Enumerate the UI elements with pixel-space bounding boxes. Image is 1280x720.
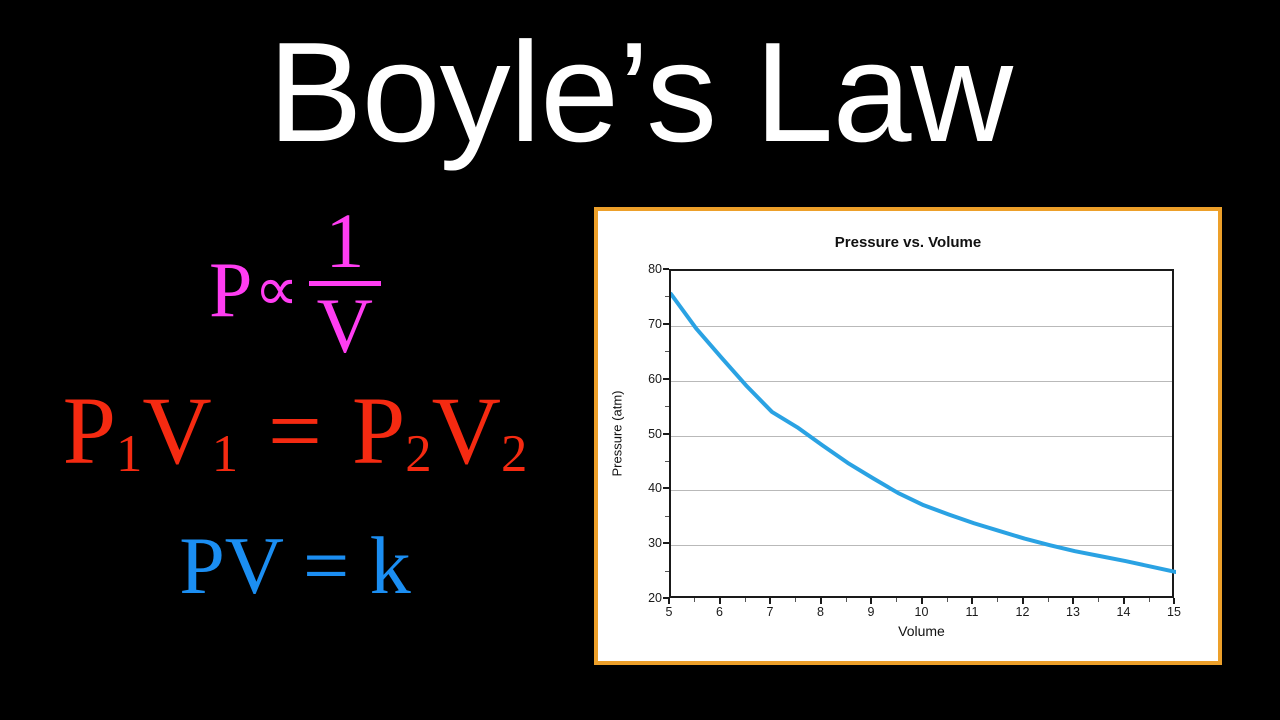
y-tick-minor xyxy=(665,406,669,407)
proportional-to-icon: ∝ xyxy=(254,259,298,321)
y-tick-label: 30 xyxy=(622,536,662,550)
chart-plot-wrapper: 20304050607080 56789101112131415 xyxy=(669,269,1174,598)
y-tick-major xyxy=(663,268,669,270)
y-tick-label: 40 xyxy=(622,481,662,495)
fraction-numerator: 1 xyxy=(309,203,381,279)
y-tick-label: 20 xyxy=(622,591,662,605)
eq-p2-subscript: 2 xyxy=(405,425,431,483)
x-tick-minor xyxy=(1149,598,1150,602)
x-tick-minor xyxy=(846,598,847,602)
x-tick-major xyxy=(769,598,771,604)
x-tick-label: 10 xyxy=(902,605,942,619)
x-tick-major xyxy=(921,598,923,604)
x-tick-label: 13 xyxy=(1053,605,1093,619)
x-tick-major xyxy=(1022,598,1024,604)
equation-pv-equals-k: PV = k xyxy=(0,525,590,607)
equation-term-pressure: P xyxy=(209,251,252,329)
x-tick-minor xyxy=(1048,598,1049,602)
equation-inverse-proportionality: P∝ 1 V xyxy=(0,205,590,367)
y-tick-major xyxy=(663,542,669,544)
x-tick-label: 12 xyxy=(1003,605,1043,619)
x-tick-major xyxy=(1123,598,1125,604)
y-tick-label: 80 xyxy=(622,262,662,276)
x-tick-label: 11 xyxy=(952,605,992,619)
x-tick-label: 8 xyxy=(801,605,841,619)
chart-plot-area xyxy=(669,269,1174,598)
eq-v1: V xyxy=(142,377,211,484)
eq-equals-sign: = xyxy=(268,377,322,484)
chart-x-axis-label: Volume xyxy=(669,623,1174,639)
x-tick-label: 5 xyxy=(649,605,689,619)
eq-v2-subscript: 2 xyxy=(501,425,527,483)
y-tick-label: 60 xyxy=(622,372,662,386)
x-tick-label: 14 xyxy=(1104,605,1144,619)
x-tick-major xyxy=(971,598,973,604)
x-tick-major xyxy=(870,598,872,604)
equations-panel: P∝ 1 V P1V1 = P2V2 PV = k xyxy=(0,195,590,665)
fraction-one-over-volume: 1 V xyxy=(309,203,381,365)
x-tick-minor xyxy=(896,598,897,602)
x-tick-major xyxy=(1072,598,1074,604)
y-tick-major xyxy=(663,487,669,489)
x-tick-minor xyxy=(795,598,796,602)
eq-v2: V xyxy=(432,377,501,484)
page-title: Boyle’s Law xyxy=(0,18,1280,167)
y-tick-major xyxy=(663,433,669,435)
chart-title: Pressure vs. Volume xyxy=(598,234,1218,251)
x-tick-major xyxy=(820,598,822,604)
y-tick-label: 70 xyxy=(622,317,662,331)
x-tick-minor xyxy=(745,598,746,602)
y-tick-label: 50 xyxy=(622,427,662,441)
equation-combined-gas-states: P1V1 = P2V2 xyxy=(0,383,590,479)
chart-series-pressure xyxy=(671,271,1176,600)
eq-p2: P xyxy=(352,377,405,484)
x-tick-label: 7 xyxy=(750,605,790,619)
x-tick-major xyxy=(719,598,721,604)
y-tick-minor xyxy=(665,296,669,297)
y-tick-major xyxy=(663,323,669,325)
eq-p1-subscript: 1 xyxy=(116,425,142,483)
eq-v1-subscript: 1 xyxy=(212,425,238,483)
y-tick-minor xyxy=(665,516,669,517)
x-tick-label: 6 xyxy=(700,605,740,619)
x-tick-major xyxy=(668,598,670,604)
x-tick-minor xyxy=(997,598,998,602)
x-tick-label: 15 xyxy=(1154,605,1194,619)
x-tick-minor xyxy=(1098,598,1099,602)
y-tick-minor xyxy=(665,571,669,572)
x-tick-major xyxy=(1173,598,1175,604)
chart-card: Pressure vs. Volume Pressure (atm) 20304… xyxy=(594,207,1222,665)
y-tick-minor xyxy=(665,461,669,462)
x-tick-minor xyxy=(947,598,948,602)
x-tick-label: 9 xyxy=(851,605,891,619)
eq-p1: P xyxy=(63,377,116,484)
fraction-denominator: V xyxy=(309,288,381,364)
y-tick-minor xyxy=(665,351,669,352)
x-tick-minor xyxy=(694,598,695,602)
y-tick-major xyxy=(663,378,669,380)
